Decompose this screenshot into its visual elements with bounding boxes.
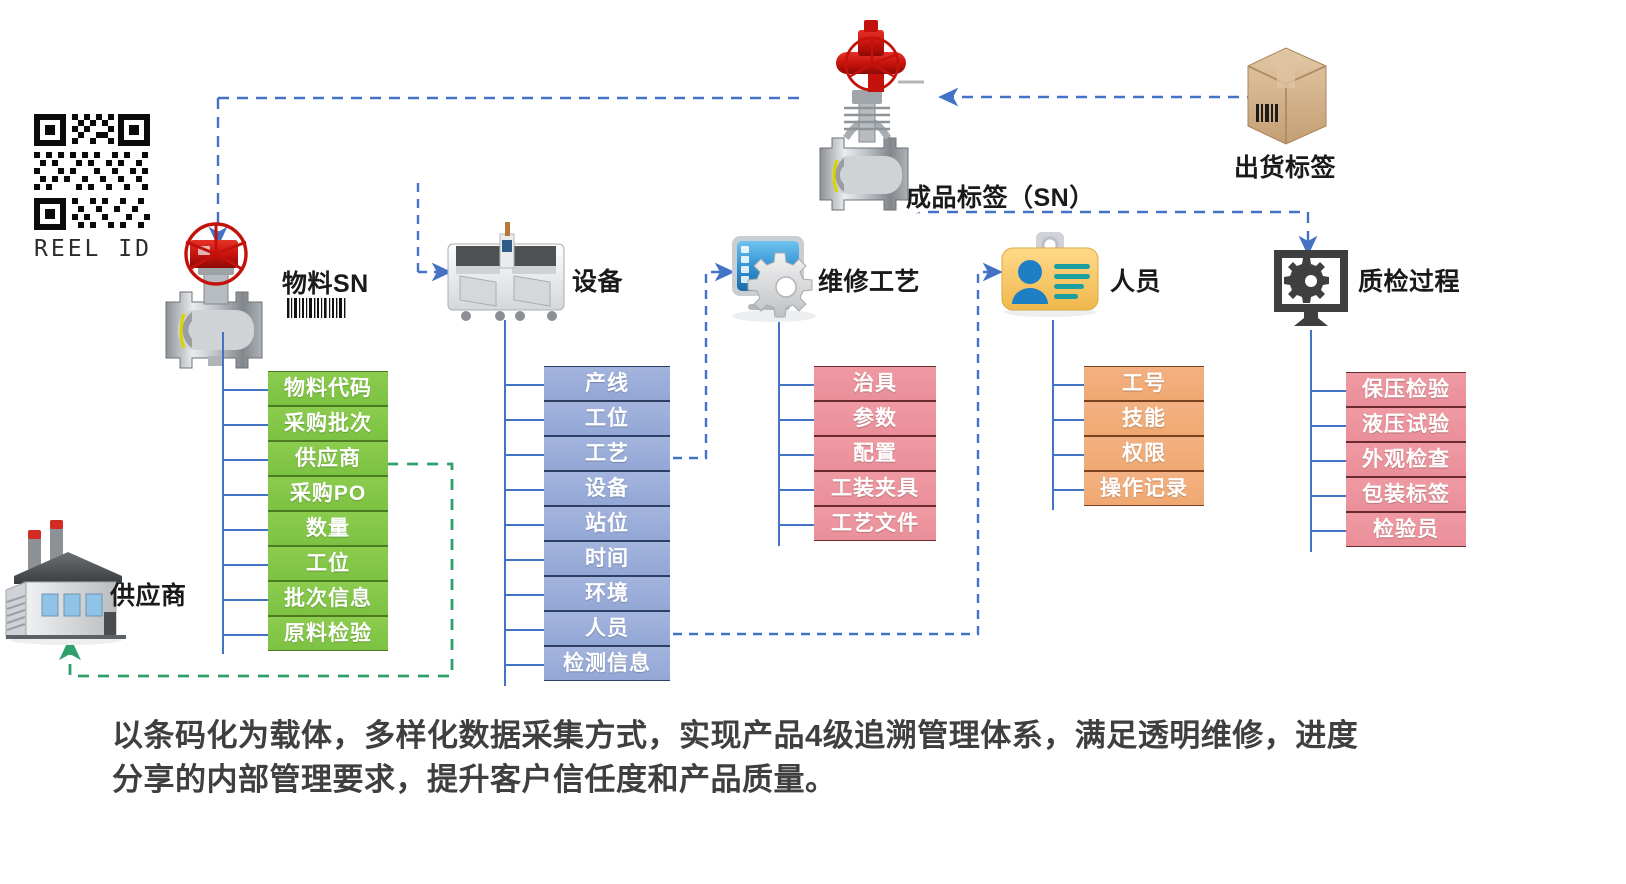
- personnel-branch: [1052, 419, 1084, 421]
- caption-block: 以条码化为载体，多样化数据采集方式，实现产品4级追溯管理体系，满足透明维修，进度…: [112, 714, 1532, 802]
- qc-process-label: 质检过程: [1358, 262, 1460, 298]
- equipment-attribute-item[interactable]: 站位: [544, 506, 670, 541]
- personnel-attribute-item[interactable]: 工号: [1084, 366, 1204, 401]
- qc-branch: [1310, 530, 1346, 532]
- equipment-attribute-item[interactable]: 检测信息: [544, 646, 670, 681]
- qc-trunk: [1310, 374, 1312, 552]
- factory-icon: [6, 520, 126, 645]
- equipment-attribute-item[interactable]: 工艺: [544, 436, 670, 471]
- equipment-branch: [504, 629, 544, 631]
- material-attribute-item[interactable]: 数量: [268, 511, 388, 546]
- qc-attribute-item[interactable]: 保压检验: [1346, 372, 1466, 407]
- personnel-attribute-item[interactable]: 权限: [1084, 436, 1204, 471]
- repair-attribute-item[interactable]: 治具: [814, 366, 936, 401]
- monitor-gear-icon: [732, 236, 816, 322]
- material-branch: [222, 424, 268, 426]
- repair-trunk: [778, 368, 780, 546]
- qc-attribute-item[interactable]: 液压试验: [1346, 407, 1466, 442]
- equipment-branch: [504, 559, 544, 561]
- caption-line-1: 以条码化为载体，多样化数据采集方式，实现产品4级追溯管理体系，满足透明维修，进度: [112, 714, 1532, 758]
- caption-line-2: 分享的内部管理要求，提升客户信任度和产品质量。: [112, 758, 1532, 802]
- equipment-branch: [504, 419, 544, 421]
- equipment-branch: [504, 524, 544, 526]
- qr-code-icon: [32, 112, 152, 232]
- supplier-label: 供应商: [110, 576, 187, 612]
- qc-monitor-icon: [1278, 254, 1344, 326]
- barcode-icon: [286, 298, 346, 318]
- qc-branch: [1310, 460, 1346, 462]
- id-badge-icon: [1002, 232, 1098, 317]
- qc-branch: [1310, 495, 1346, 497]
- equipment-branch: [504, 489, 544, 491]
- personnel-branch: [1052, 489, 1084, 491]
- repair-process-label: 维修工艺: [818, 262, 920, 298]
- qc-branch: [1310, 425, 1346, 427]
- equipment-attribute-item[interactable]: 产线: [544, 366, 670, 401]
- equipment-attribute-item[interactable]: 设备: [544, 471, 670, 506]
- repair-stem: [778, 322, 780, 370]
- repair-branch: [778, 454, 814, 456]
- material-trunk: [222, 372, 224, 654]
- equipment-attribute-item[interactable]: 工位: [544, 401, 670, 436]
- repair-attribute-item[interactable]: 工艺文件: [814, 506, 936, 541]
- equipment-attribute-item[interactable]: 人员: [544, 611, 670, 646]
- equipment-branch: [504, 664, 544, 666]
- repair-attribute-list: 治具参数配置工装夹具工艺文件: [814, 366, 936, 541]
- personnel-branch: [1052, 454, 1084, 456]
- material-attribute-item[interactable]: 工位: [268, 546, 388, 581]
- equipment-label: 设备: [572, 262, 623, 298]
- equipment-branch: [504, 594, 544, 596]
- traceability-diagram: REEL ID 物料SN 设备 维修工艺 人员 质检过程 成品标签（SN） 出货…: [0, 0, 1626, 884]
- material-sn-label: 物料SN: [282, 264, 369, 300]
- personnel-label: 人员: [1110, 262, 1161, 298]
- equipment-attribute-item[interactable]: 时间: [544, 541, 670, 576]
- material-attribute-item[interactable]: 批次信息: [268, 581, 388, 616]
- material-attribute-item[interactable]: 物料代码: [268, 371, 388, 406]
- repair-branch: [778, 419, 814, 421]
- personnel-attribute-item[interactable]: 操作记录: [1084, 471, 1204, 506]
- qc-attribute-list: 保压检验液压试验外观检查包装标签检验员: [1346, 372, 1466, 547]
- carton-box-icon: [1248, 48, 1326, 144]
- personnel-stem: [1052, 320, 1054, 370]
- material-stem: [222, 332, 224, 374]
- material-branch: [222, 599, 268, 601]
- qc-attribute-item[interactable]: 包装标签: [1346, 477, 1466, 512]
- personnel-attribute-list: 工号技能权限操作记录: [1084, 366, 1204, 506]
- qc-stem: [1310, 330, 1312, 376]
- equipment-stem: [504, 320, 506, 370]
- material-branch: [222, 389, 268, 391]
- reel-id-label: REEL ID: [34, 236, 152, 262]
- repair-branch: [778, 384, 814, 386]
- smt-machine-icon: [448, 222, 564, 326]
- qc-attribute-item[interactable]: 外观检查: [1346, 442, 1466, 477]
- repair-attribute-item[interactable]: 参数: [814, 401, 936, 436]
- repair-attribute-item[interactable]: 工装夹具: [814, 471, 936, 506]
- material-attribute-item[interactable]: 原料检验: [268, 616, 388, 651]
- material-branch: [222, 494, 268, 496]
- material-attribute-list: 物料代码采购批次供应商采购PO数量工位批次信息原料检验: [268, 371, 388, 651]
- material-branch: [222, 564, 268, 566]
- personnel-branch: [1052, 384, 1084, 386]
- qc-branch: [1310, 390, 1346, 392]
- repair-branch: [778, 489, 814, 491]
- valve-icon: [157, 224, 273, 368]
- equipment-attribute-list: 产线工位工艺设备站位时间环境人员检测信息: [544, 366, 670, 681]
- material-branch: [222, 529, 268, 531]
- flow-finished-to-qc: [890, 212, 1308, 253]
- equipment-branch: [504, 384, 544, 386]
- shipping-label: 出货标签: [1234, 148, 1336, 184]
- finished-label: 成品标签（SN）: [906, 178, 1095, 214]
- flow-craft-to-repair: [673, 272, 732, 458]
- equipment-attribute-item[interactable]: 环境: [544, 576, 670, 611]
- equipment-branch: [504, 454, 544, 456]
- material-branch: [222, 634, 268, 636]
- repair-branch: [778, 524, 814, 526]
- repair-attribute-item[interactable]: 配置: [814, 436, 936, 471]
- material-attribute-item[interactable]: 采购批次: [268, 406, 388, 441]
- material-attribute-item[interactable]: 采购PO: [268, 476, 388, 511]
- material-branch: [222, 459, 268, 461]
- personnel-attribute-item[interactable]: 技能: [1084, 401, 1204, 436]
- qc-attribute-item[interactable]: 检验员: [1346, 512, 1466, 547]
- material-attribute-item[interactable]: 供应商: [268, 441, 388, 476]
- equipment-trunk: [504, 368, 506, 686]
